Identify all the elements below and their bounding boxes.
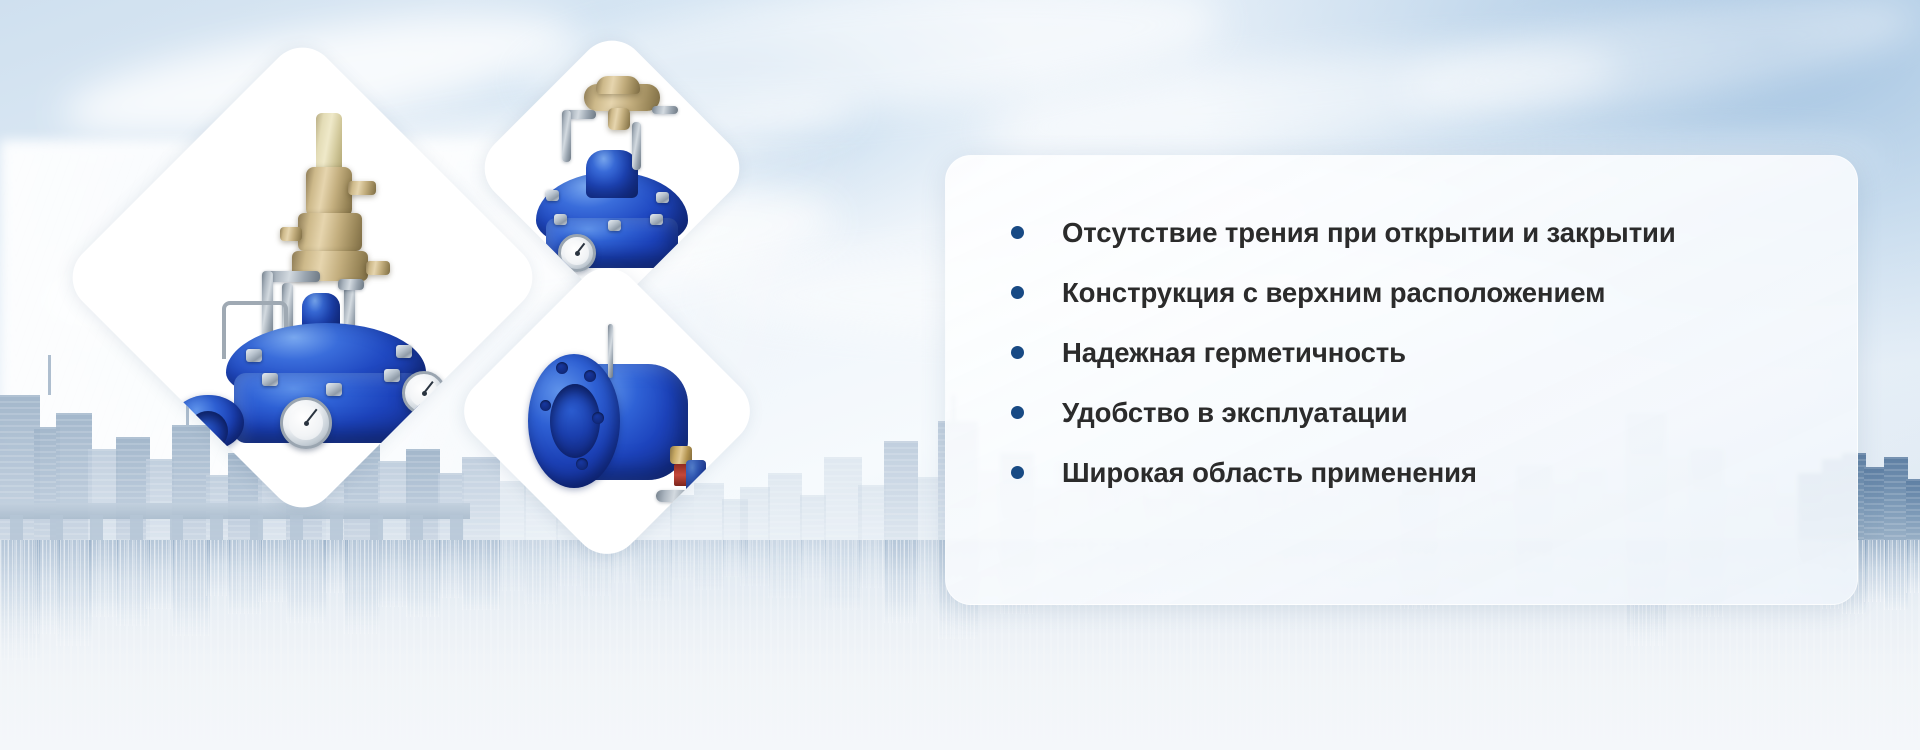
- building: [694, 483, 724, 545]
- building: [1864, 467, 1886, 545]
- building-reflection: [146, 540, 174, 609]
- building-reflection: [1864, 540, 1886, 602]
- pilot-adjust-cap: [316, 113, 342, 175]
- bolt: [396, 345, 412, 358]
- flange-bolt-hole: [584, 370, 596, 382]
- bullet-dot-icon: [1011, 286, 1024, 299]
- list-item: Отсутствие трения при открытии и закрыти…: [1011, 208, 1827, 257]
- valve-illustration-bottom: [496, 300, 718, 522]
- pilot-valve-housing: [298, 213, 362, 251]
- bolt: [656, 192, 669, 203]
- feature-label: Отсутствие трения при открытии и закрыти…: [1062, 217, 1676, 249]
- building: [498, 481, 526, 545]
- bolt: [326, 383, 342, 396]
- flange-bolt-hole: [576, 458, 588, 470]
- bolt: [546, 190, 559, 201]
- bullet-dot-icon: [1011, 346, 1024, 359]
- valve-illustration-main: [130, 105, 475, 450]
- building: [884, 441, 918, 545]
- bolt: [554, 214, 567, 225]
- bullet-dot-icon: [1011, 406, 1024, 419]
- valve-neck: [586, 150, 638, 198]
- bullet-dot-icon: [1011, 226, 1024, 239]
- building: [824, 457, 862, 545]
- bridge: [0, 503, 470, 519]
- list-item: Конструкция с верхним расположением: [1011, 268, 1827, 317]
- valve-stem-rod: [608, 324, 613, 378]
- building: [858, 485, 886, 545]
- building: [916, 477, 940, 545]
- building-reflection: [438, 540, 464, 598]
- feature-label: Конструкция с верхним расположением: [1062, 277, 1605, 309]
- pilot-valve-upper: [306, 167, 352, 217]
- valve-illustration-top: [512, 68, 712, 268]
- pilot-valve-top: [596, 76, 640, 94]
- building-reflection: [740, 540, 770, 586]
- antenna: [48, 355, 51, 395]
- building-reflection: [768, 540, 802, 598]
- building-reflection: [858, 540, 886, 588]
- building: [740, 487, 770, 545]
- bolt: [262, 373, 278, 386]
- pilot-side-port: [348, 181, 376, 195]
- product-image-top-content: [512, 68, 712, 268]
- building-reflection: [916, 540, 940, 594]
- feature-label: Надежная герметичность: [1062, 337, 1406, 369]
- building-reflection: [498, 540, 526, 591]
- building-reflection: [206, 540, 230, 596]
- bullet-dot-icon: [1011, 466, 1024, 479]
- features-panel: Отсутствие трения при открытии и закрыти…: [945, 155, 1858, 605]
- building-reflection: [258, 540, 288, 602]
- pipe-vertical-right: [632, 122, 641, 170]
- bolt: [650, 214, 663, 225]
- pilot-left-port: [280, 227, 302, 241]
- building-reflection: [378, 540, 408, 607]
- bolt: [384, 369, 400, 382]
- flange-bolt-hole: [540, 400, 551, 411]
- building: [670, 495, 694, 545]
- list-item: Широкая область применения: [1011, 448, 1827, 497]
- building: [1884, 457, 1908, 545]
- feature-label: Удобство в эксплуатации: [1062, 397, 1408, 429]
- list-item: Надежная герметичность: [1011, 328, 1827, 377]
- building-reflection: [670, 540, 694, 580]
- features-bullet-list: Отсутствие трения при открытии и закрыти…: [1011, 208, 1827, 508]
- building: [768, 473, 802, 545]
- building-reflection: [556, 540, 582, 586]
- flange-bolt-hole: [592, 412, 604, 424]
- building-reflection: [1906, 540, 1920, 593]
- gauge-hub: [304, 420, 309, 425]
- list-item: Удобство в эксплуатации: [1011, 388, 1827, 437]
- flange-bolt-hole: [556, 362, 568, 374]
- water-fade: [0, 600, 1920, 750]
- product-image-main-content: [130, 105, 475, 450]
- pilot-valve-stem: [608, 108, 630, 130]
- pilot-right-port: [366, 261, 390, 275]
- building: [462, 457, 500, 545]
- product-image-bottom-content: [496, 300, 718, 522]
- pipe-right-branch: [652, 106, 678, 114]
- building-reflection: [694, 540, 724, 590]
- bolt: [608, 220, 621, 231]
- pipe-right-elbow: [338, 279, 364, 290]
- building-reflection: [524, 540, 558, 604]
- feature-label: Широкая область применения: [1062, 457, 1477, 489]
- building-reflection: [636, 540, 672, 601]
- pressure-gauge-center: [280, 397, 332, 449]
- hero-banner: Отсутствие трения при открытии и закрыти…: [0, 0, 1920, 750]
- pipe-vertical-left: [562, 110, 571, 162]
- bolt: [246, 349, 262, 362]
- building-reflection: [800, 540, 826, 580]
- building: [800, 495, 826, 545]
- gauge-hub: [575, 251, 580, 256]
- gauge-hub: [422, 391, 427, 396]
- building: [1906, 479, 1920, 545]
